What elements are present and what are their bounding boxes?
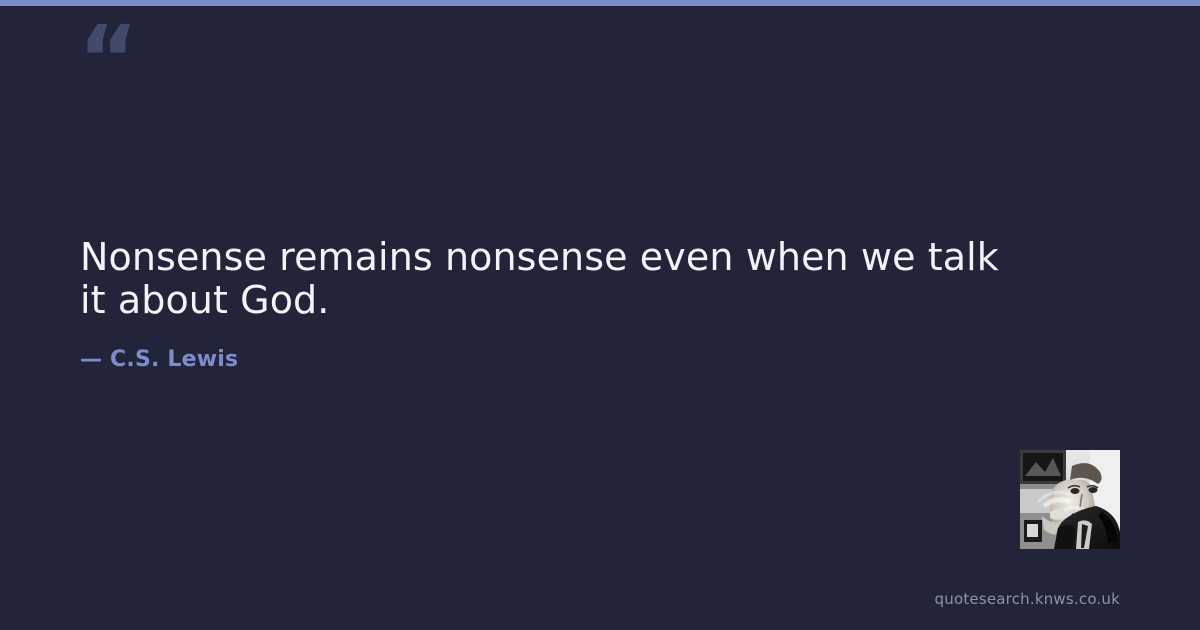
quote-attribution: — C.S. Lewis: [80, 347, 1000, 372]
top-accent-bar: [0, 0, 1200, 6]
author-portrait-image: [1020, 450, 1120, 549]
quote-card: “ Nonsense remains nonsense even when we…: [0, 0, 1200, 630]
quote-text: Nonsense remains nonsense even when we t…: [80, 236, 1000, 321]
author-portrait-graphic: [1020, 450, 1120, 549]
quote-block: Nonsense remains nonsense even when we t…: [80, 236, 1000, 372]
opening-quote-icon: “: [78, 14, 136, 106]
source-url: quotesearch.knws.co.uk: [935, 590, 1120, 608]
